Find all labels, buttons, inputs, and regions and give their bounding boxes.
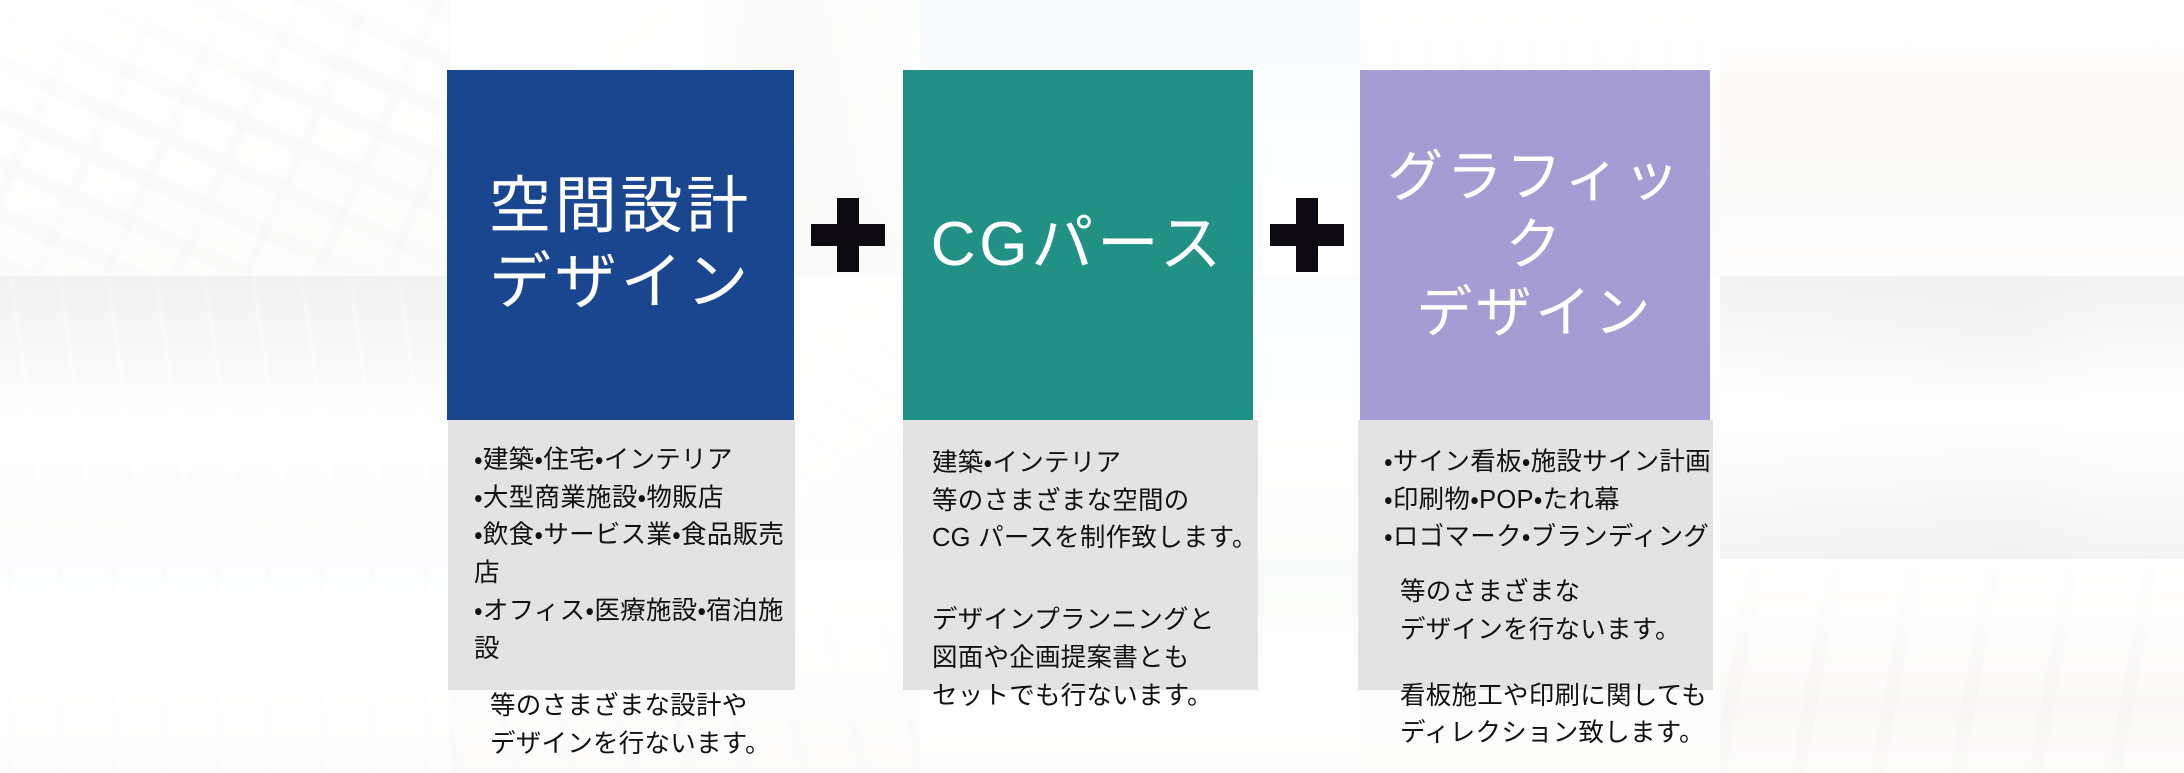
panel-graphic-design-body: ・サイン看板・施設サイン計画 ・印刷物・POP・たれ幕 ・ロゴマーク・ブランディ… [1358,420,1713,690]
panel-cg-perspective-header: CGパース [903,70,1253,420]
plus-icon [811,198,885,272]
bg-tile-shop-front-with-trees [1720,0,2184,276]
panel-cg-perspective-list: 建築・インテリア 等のさまざまな空間の CG パースを制作致します。 [932,445,1258,558]
panel-space-design-note-1: 等のさまざまな設計や デザインを行ないます。 [474,688,795,763]
bg-tile-dental-clinic-exterior [1720,276,2184,559]
panel-cg-perspective-heading: CGパース [931,207,1226,283]
panel-graphic-design-note-2: 看板施工や印刷に関しても ディレクション致します。 [1384,678,1713,753]
panel-space-design-body: ・建築・住宅・インテリア ・大型商業施設・物販店 ・飲食・サービス業・食品販売店… [448,420,795,690]
plus-icon-vertical-bar [837,198,859,272]
panel-space-design-list: ・建築・住宅・インテリア ・大型商業施設・物販店 ・飲食・サービス業・食品販売店… [474,442,795,668]
panel-graphic-design-note-1: 等のさまざまな デザインを行ないます。 [1384,574,1713,649]
plus-icon-vertical-bar [1296,198,1318,272]
bg-tile-apartment-building-exterior [0,559,450,773]
panel-graphic-design-list: ・サイン看板・施設サイン計画 ・印刷物・POP・たれ幕 ・ロゴマーク・ブランディ… [1384,444,1713,557]
plus-icon [1270,198,1344,272]
panel-space-design-heading: 空間設計 デザイン [489,169,752,320]
panel-graphic-design-header: グラフィック デザイン [1360,70,1710,420]
panel-space-design-header: 空間設計 デザイン [447,70,794,420]
bg-tile-aerial-masterplan-render [0,0,450,276]
bg-tile-open-plan-office-render [0,276,450,559]
banner-root: 空間設計 デザイン ・建築・住宅・インテリア ・大型商業施設・物販店 ・飲食・サ… [0,0,2184,773]
bg-tile-restaurant-interior-render [1720,559,2184,773]
panel-cg-perspective-body: 建築・インテリア 等のさまざまな空間の CG パースを制作致します。 デザインプ… [903,420,1258,690]
panel-graphic-design-heading: グラフィック デザイン [1360,143,1710,348]
panel-cg-perspective-note-1: デザインプランニングと 図面や企画提案書とも セットでも行ないます。 [932,602,1258,715]
